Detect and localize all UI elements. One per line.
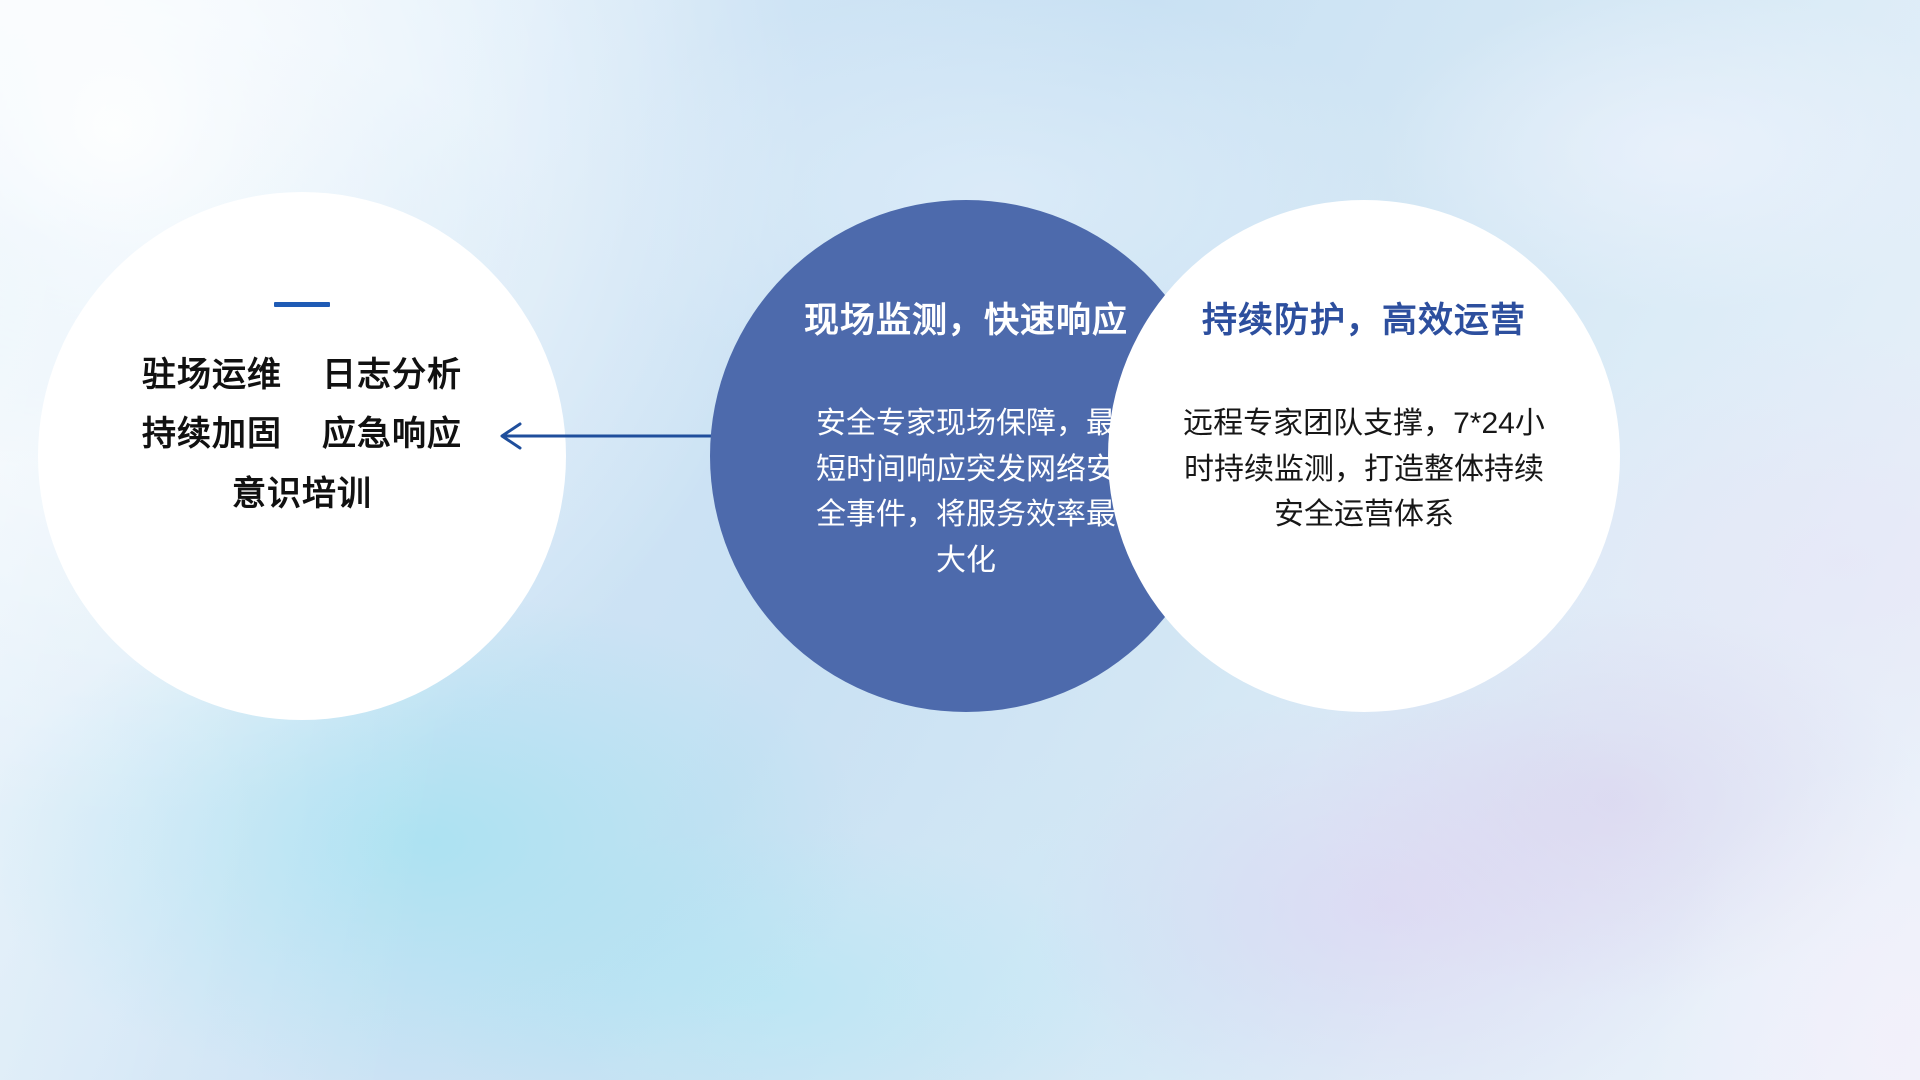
middle-circle-body: 安全专家现场保障，最短时间响应突发网络安全事件，将服务效率最大化 — [816, 401, 1116, 583]
left-keyword-row: 持续加固 应急响应 — [142, 416, 462, 453]
left-keyword-row: 驻场运维 日志分析 — [142, 357, 462, 394]
slide-canvas: 驻场运维 日志分析 持续加固 应急响应 意识培训 现场监测，快速响应 安全专家现… — [0, 0, 1920, 1080]
connector-arrow — [490, 416, 730, 456]
accent-rule-divider — [274, 302, 330, 307]
right-circle-body: 远程专家团队支撑，7*24小时持续监测，打造整体持续安全运营体系 — [1174, 401, 1554, 538]
left-keyword-circle: 驻场运维 日志分析 持续加固 应急响应 意识培训 — [38, 192, 566, 720]
left-keyword: 应急响应 — [322, 416, 462, 453]
middle-circle-title: 现场监测，快速响应 — [804, 292, 1128, 343]
left-keyword: 驻场运维 — [142, 357, 282, 394]
right-white-circle: 持续防护，高效运营 远程专家团队支撑，7*24小时持续监测，打造整体持续安全运营… — [1108, 200, 1620, 712]
left-keyword: 日志分析 — [322, 357, 462, 394]
left-keyword-list: 驻场运维 日志分析 持续加固 应急响应 意识培训 — [142, 357, 462, 513]
right-circle-title: 持续防护，高效运营 — [1202, 292, 1526, 343]
left-keyword: 持续加固 — [142, 416, 282, 453]
left-keyword-row: 意识培训 — [232, 476, 372, 513]
left-keyword: 意识培训 — [232, 476, 372, 513]
